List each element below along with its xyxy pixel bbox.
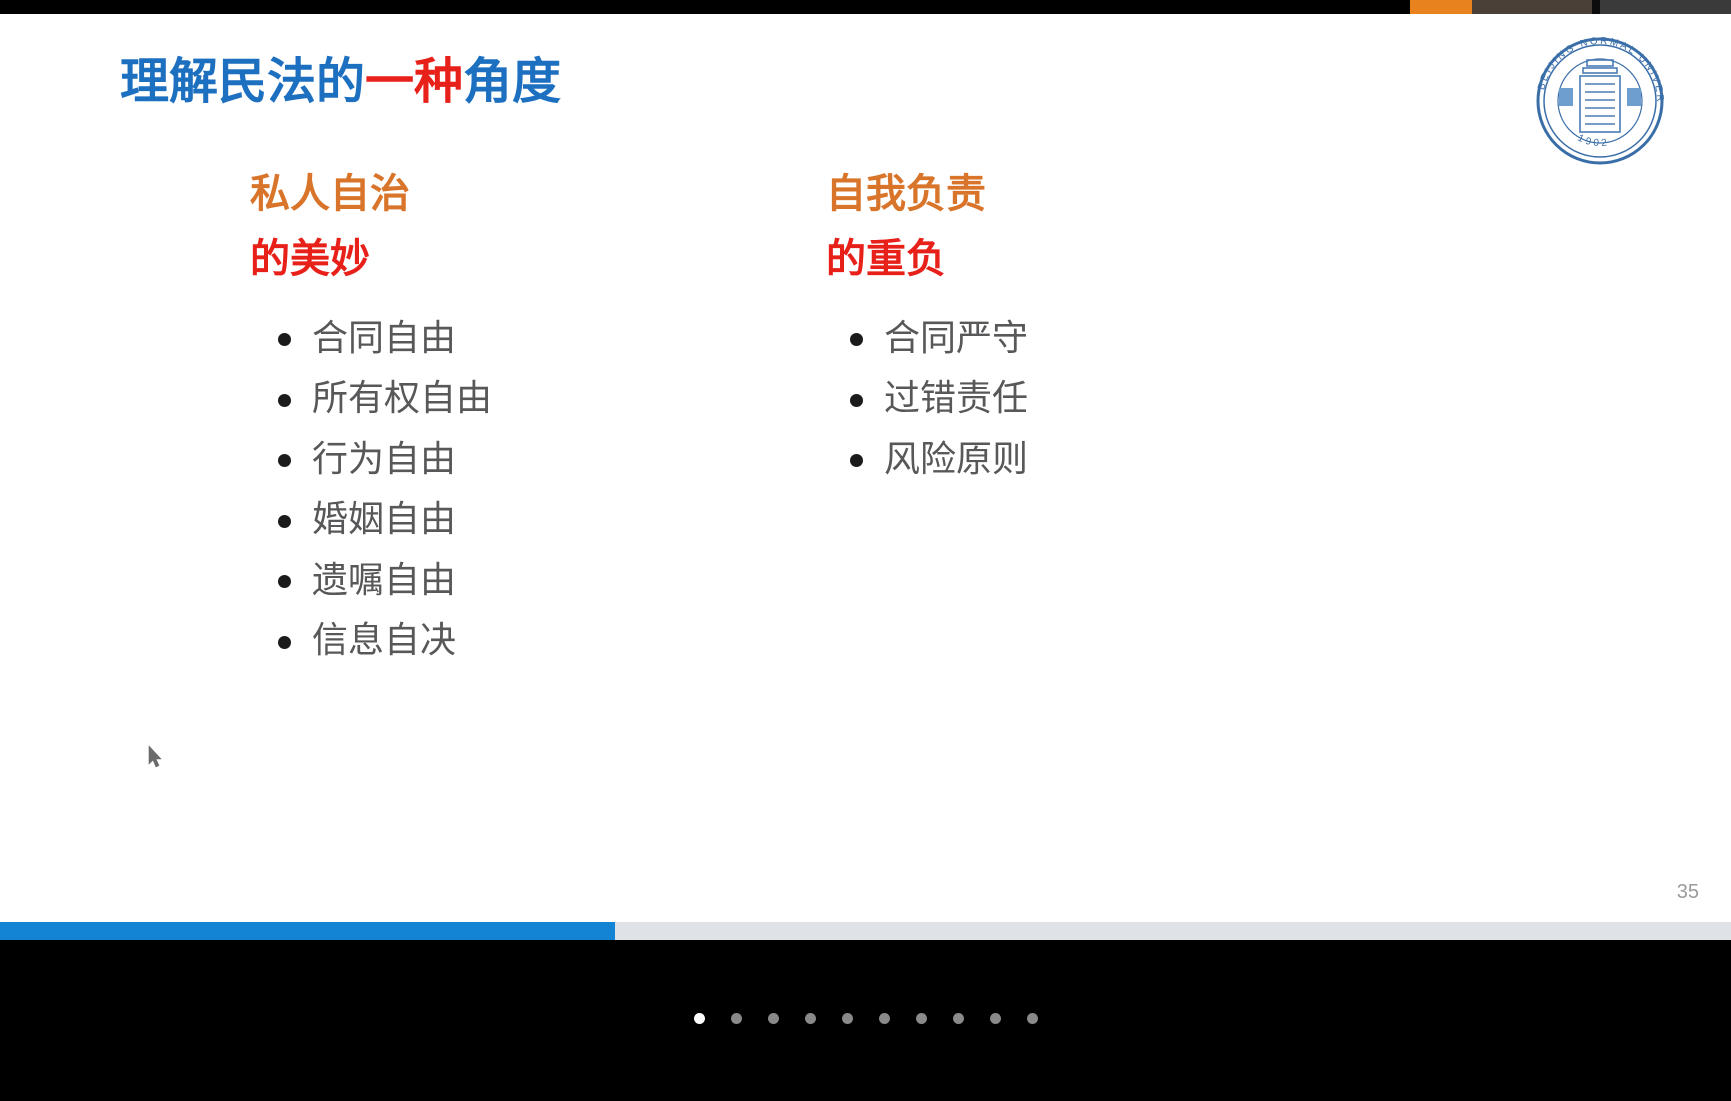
list-item: 信息自决 — [250, 611, 730, 671]
slide-title-part2: 一种 — [365, 55, 463, 109]
page-dot-6[interactable] — [879, 1013, 890, 1024]
list-item: 合同严守 — [822, 309, 1302, 369]
bullet-dot-icon — [278, 333, 291, 346]
page-dot-indicators[interactable] — [681, 1013, 1051, 1024]
page-dot-10[interactable] — [1027, 1013, 1038, 1024]
column-self-responsibility: 自我负责 的重负 合同严守 过错责任 风险原则 — [822, 174, 1302, 490]
slide-canvas[interactable]: 理解民法的一种角度 BEIJING NORMAL UNIVERSITY 1902 — [0, 14, 1731, 922]
list-item: 合同自由 — [250, 309, 730, 369]
bullet-dot-icon — [278, 636, 291, 649]
video-thumbnail-1[interactable] — [1472, 0, 1592, 14]
column-left-heading-2: 的美妙 — [250, 239, 730, 279]
svg-text:1902: 1902 — [1576, 133, 1611, 149]
column-private-autonomy: 私人自治 的美妙 合同自由 所有权自由 行为自由 婚姻自由 遗嘱自由 信息自决 — [250, 174, 730, 672]
slide-title: 理解民法的一种角度 — [120, 52, 561, 113]
list-item: 所有权自由 — [250, 369, 730, 429]
university-logo: BEIJING NORMAL UNIVERSITY 1902 — [1525, 26, 1675, 168]
list-item-label: 所有权自由 — [312, 378, 492, 419]
page-dot-4[interactable] — [805, 1013, 816, 1024]
page-dot-7[interactable] — [916, 1013, 927, 1024]
list-item-label: 遗嘱自由 — [312, 560, 456, 601]
footer-bar — [0, 940, 1731, 1101]
column-left-heading-1: 私人自治 — [250, 174, 730, 214]
list-item: 婚姻自由 — [250, 490, 730, 550]
orange-accent-segment — [1410, 0, 1472, 14]
list-item-label: 过错责任 — [884, 378, 1028, 419]
list-item: 遗嘱自由 — [250, 551, 730, 611]
page-dot-3[interactable] — [768, 1013, 779, 1024]
list-item: 风险原则 — [822, 430, 1302, 490]
bullet-list-right: 合同严守 过错责任 风险原则 — [822, 309, 1302, 490]
list-item-label: 行为自由 — [312, 439, 456, 480]
list-item: 行为自由 — [250, 430, 730, 490]
progress-bar-fill[interactable] — [0, 922, 615, 940]
bullet-dot-icon — [278, 394, 291, 407]
page-dot-8[interactable] — [953, 1013, 964, 1024]
presentation-viewer: 理解民法的一种角度 BEIJING NORMAL UNIVERSITY 1902 — [0, 0, 1731, 1101]
page-number: 35 — [1677, 881, 1699, 904]
bullet-list-left: 合同自由 所有权自由 行为自由 婚姻自由 遗嘱自由 信息自决 — [250, 309, 730, 672]
progress-bar-track[interactable] — [0, 922, 1731, 940]
column-right-heading-1: 自我负责 — [826, 174, 1302, 214]
page-dot-9[interactable] — [990, 1013, 1001, 1024]
bullet-dot-icon — [850, 454, 863, 467]
bullet-dot-icon — [850, 394, 863, 407]
list-item-label: 信息自决 — [312, 620, 456, 661]
thumbnail-gap — [1592, 0, 1600, 14]
page-dot-2[interactable] — [731, 1013, 742, 1024]
mouse-cursor-icon — [148, 745, 162, 769]
bullet-dot-icon — [278, 515, 291, 528]
bullet-dot-icon — [278, 454, 291, 467]
bullet-dot-icon — [278, 575, 291, 588]
slide-title-part1: 理解民法的 — [120, 55, 365, 109]
top-video-thumbnail-strip[interactable] — [1410, 0, 1731, 14]
list-item-label: 合同自由 — [312, 318, 456, 359]
column-right-heading-2: 的重负 — [826, 239, 1302, 279]
bullet-dot-icon — [850, 333, 863, 346]
page-dot-1[interactable] — [694, 1013, 705, 1024]
page-dot-5[interactable] — [842, 1013, 853, 1024]
list-item: 过错责任 — [822, 369, 1302, 429]
list-item-label: 婚姻自由 — [312, 499, 456, 540]
list-item-label: 风险原则 — [884, 439, 1028, 480]
list-item-label: 合同严守 — [884, 318, 1028, 359]
slide-title-part3: 角度 — [463, 55, 561, 109]
video-thumbnail-2[interactable] — [1600, 0, 1731, 14]
